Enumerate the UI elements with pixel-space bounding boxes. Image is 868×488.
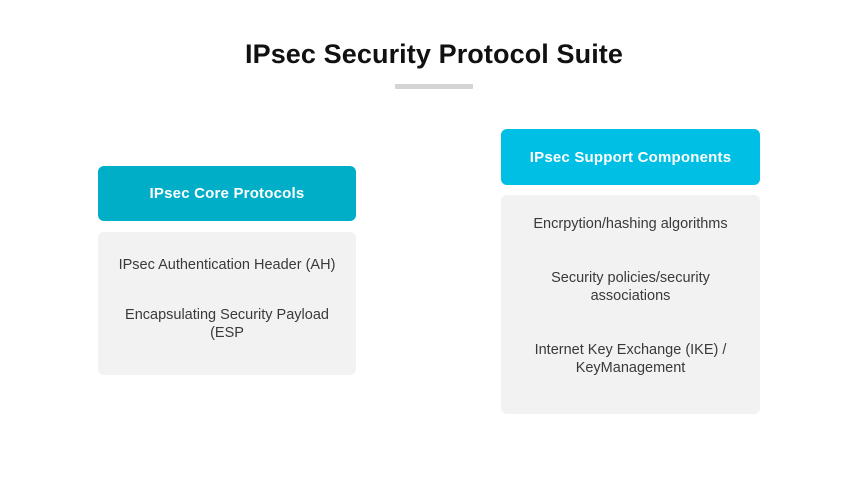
card-body-ipsec-support-components: Encrpytion/hashing algorithms Security p… bbox=[501, 195, 760, 414]
title-block: IPsec Security Protocol Suite bbox=[0, 38, 868, 89]
list-item: IPsec Authentication Header (AH) bbox=[98, 256, 356, 275]
card-ipsec-core-protocols: IPsec Core Protocols IPsec Authenticatio… bbox=[98, 166, 356, 375]
list-item: Internet Key Exchange (IKE) / KeyManagem… bbox=[501, 341, 760, 378]
card-ipsec-support-components: IPsec Support Components Encrpytion/hash… bbox=[501, 129, 760, 414]
slide-canvas: IPsec Security Protocol Suite IPsec Core… bbox=[0, 0, 868, 488]
card-header-label: IPsec Core Protocols bbox=[142, 184, 313, 203]
list-item: Encapsulating Security Payload (ESP bbox=[98, 306, 356, 343]
title-underline-decoration bbox=[395, 84, 473, 89]
card-body-ipsec-core-protocols: IPsec Authentication Header (AH) Encapsu… bbox=[98, 232, 356, 375]
list-item: Security policies/security associations bbox=[501, 269, 760, 306]
page-title: IPsec Security Protocol Suite bbox=[0, 38, 868, 70]
list-item: Encrpytion/hashing algorithms bbox=[501, 215, 760, 234]
card-header-ipsec-support-components[interactable]: IPsec Support Components bbox=[501, 129, 760, 185]
card-header-label: IPsec Support Components bbox=[522, 148, 740, 167]
card-header-ipsec-core-protocols[interactable]: IPsec Core Protocols bbox=[98, 166, 356, 221]
